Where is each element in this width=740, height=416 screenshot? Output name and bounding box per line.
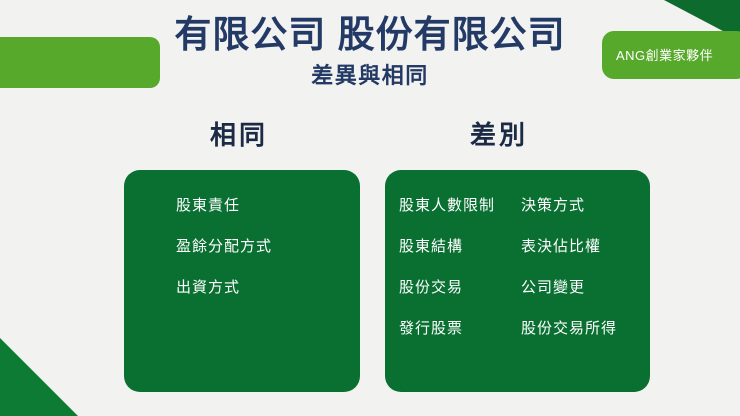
list-item: 決策方式 <box>521 198 650 213</box>
list-item: 盈餘分配方式 <box>176 239 360 254</box>
list-item: 股份交易 <box>399 280 521 295</box>
list-item: 股東責任 <box>176 198 360 213</box>
list-item: 股東結構 <box>399 239 521 254</box>
list-item: 表決佔比權 <box>521 239 650 254</box>
list-item: 股份交易所得 <box>521 321 650 336</box>
header-accent-bar-left <box>0 37 160 88</box>
column-heading-same: 相同 <box>210 122 268 148</box>
card-different: 股東人數限制 決策方式 股東結構 表決佔比權 股份交易 公司變更 發行股票 股份… <box>385 170 650 392</box>
slide-canvas: ANG創業家夥伴 有限公司 股份有限公司 差異與相同 相同 差別 股東責任 盈餘… <box>0 0 740 416</box>
list-item: 出資方式 <box>176 280 360 295</box>
brand-badge-label: ANG創業家夥伴 <box>616 49 713 62</box>
card-same: 股東責任 盈餘分配方式 出資方式 <box>124 170 360 392</box>
list-item: 公司變更 <box>521 280 650 295</box>
same-item-list: 股東責任 盈餘分配方式 出資方式 <box>124 198 360 295</box>
brand-badge: ANG創業家夥伴 <box>602 31 740 79</box>
column-heading-different: 差別 <box>470 122 528 148</box>
different-item-grid: 股東人數限制 決策方式 股東結構 表決佔比權 股份交易 公司變更 發行股票 股份… <box>385 198 650 336</box>
corner-triangle-bottom-left-icon <box>0 338 78 416</box>
list-item: 股東人數限制 <box>399 198 521 213</box>
list-item: 發行股票 <box>399 321 521 336</box>
